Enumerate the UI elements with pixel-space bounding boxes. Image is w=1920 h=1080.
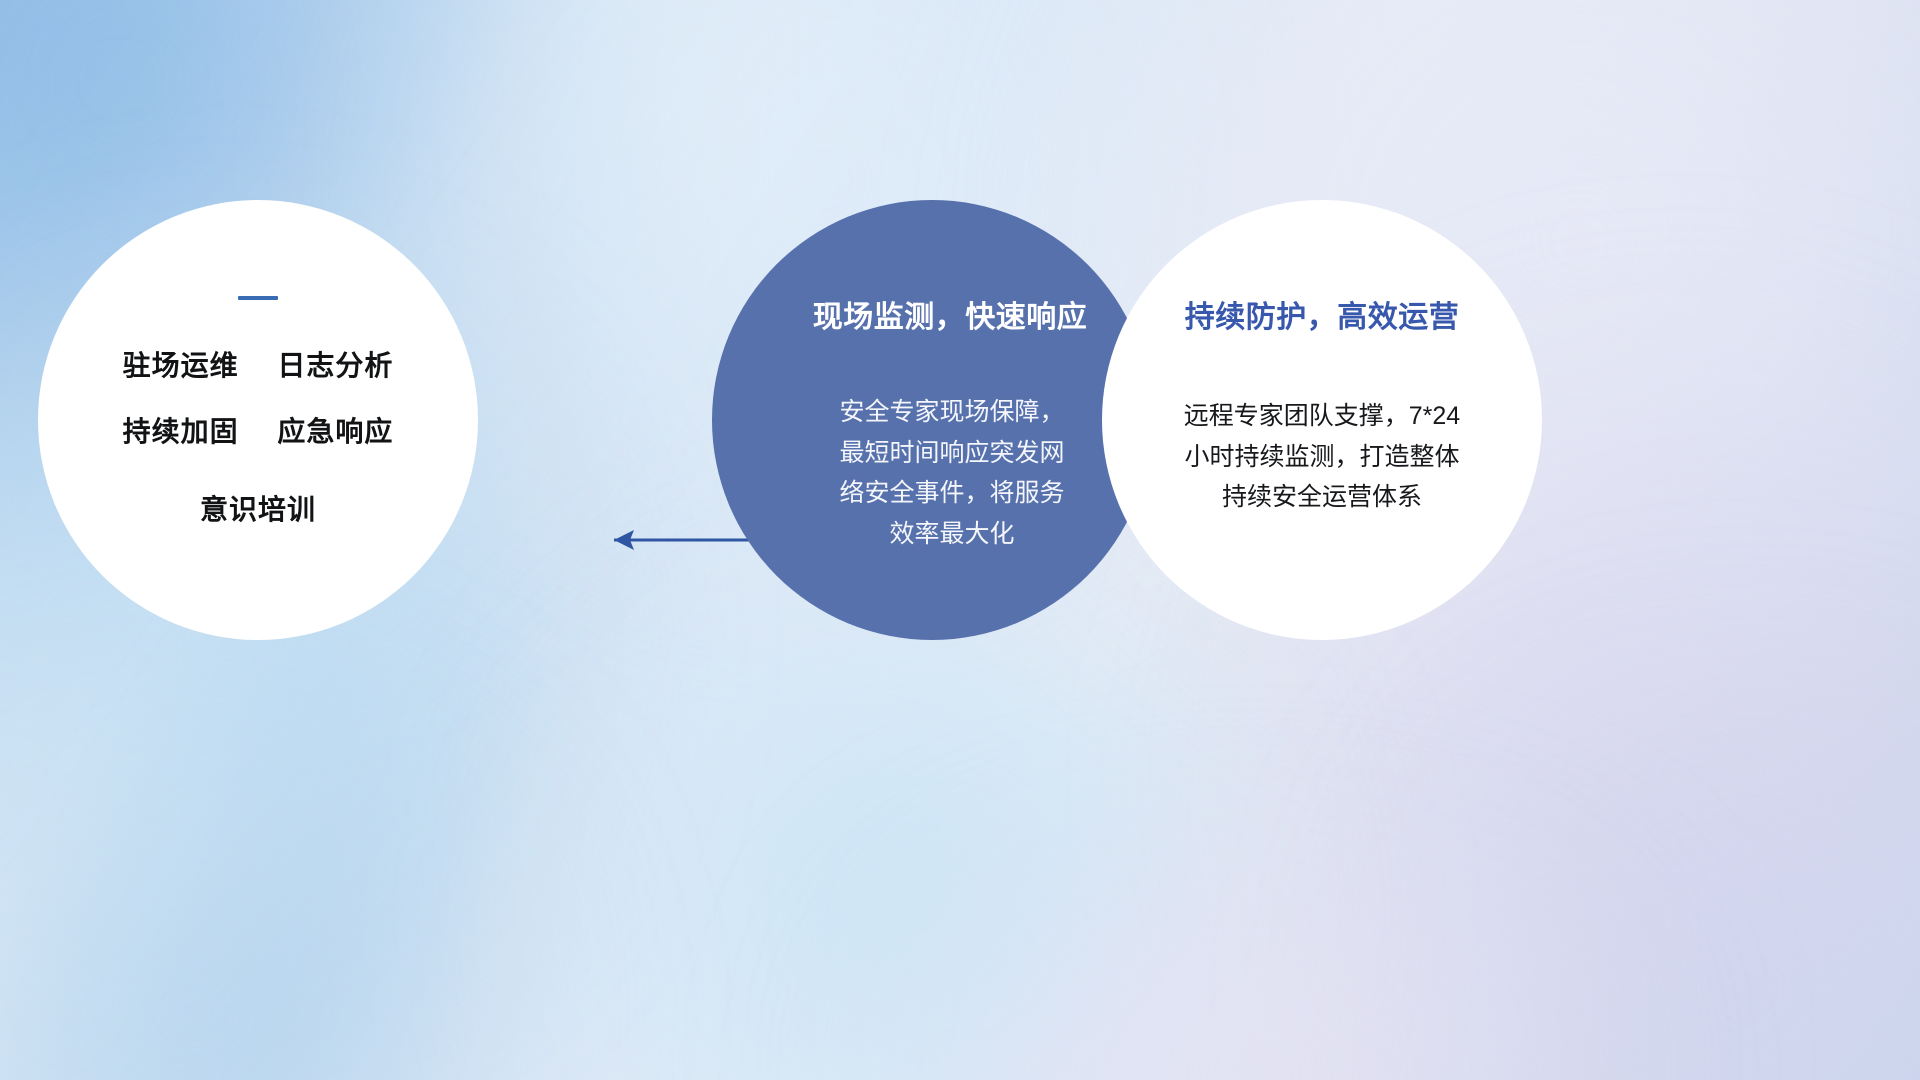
capability-row-1: 驻场运维 日志分析 bbox=[123, 344, 394, 384]
capability-list: 驻场运维 日志分析 持续加固 应急响应 意识培训 bbox=[123, 344, 394, 528]
capability-item-emergency-response: 应急响应 bbox=[277, 416, 393, 447]
capability-row-3: 意识培训 bbox=[200, 488, 316, 528]
card-body-continuous-protection: 远程专家团队支撑，7*24 小时持续监测，打造整体 持续安全运营体系 bbox=[1137, 396, 1507, 518]
capability-row-2: 持续加固 应急响应 bbox=[123, 410, 394, 450]
card-body-line: 小时持续监测，打造整体 bbox=[1137, 437, 1507, 478]
slide-canvas: 驻场运维 日志分析 持续加固 应急响应 意识培训 现场监测，快速响应 安全专家现… bbox=[0, 0, 1920, 1080]
card-capabilities: 驻场运维 日志分析 持续加固 应急响应 意识培训 bbox=[38, 200, 478, 640]
capability-item-continuous-hardening: 持续加固 bbox=[123, 416, 239, 447]
card-body-line: 安全专家现场保障， bbox=[802, 392, 1102, 433]
card-onsite-monitoring: 现场监测，快速响应 安全专家现场保障， 最短时间响应突发网 络安全事件，将服务 … bbox=[712, 200, 1152, 640]
card-body-onsite-monitoring: 安全专家现场保障， 最短时间响应突发网 络安全事件，将服务 效率最大化 bbox=[802, 392, 1102, 554]
card-body-line: 持续安全运营体系 bbox=[1137, 477, 1507, 518]
card-body-line: 最短时间响应突发网 bbox=[802, 433, 1102, 474]
capability-item-log-analysis: 日志分析 bbox=[277, 350, 393, 381]
card-body-line: 效率最大化 bbox=[802, 514, 1102, 555]
card-body-line: 远程专家团队支撑，7*24 bbox=[1137, 396, 1507, 437]
title-divider bbox=[238, 296, 278, 300]
card-continuous-protection: 持续防护，高效运营 远程专家团队支撑，7*24 小时持续监测，打造整体 持续安全… bbox=[1102, 200, 1542, 640]
card-title-continuous-protection: 持续防护，高效运营 bbox=[1185, 292, 1460, 336]
capability-item-onsite-ops: 驻场运维 bbox=[123, 350, 239, 381]
capability-item-awareness-training: 意识培训 bbox=[200, 494, 316, 525]
card-body-line: 络安全事件，将服务 bbox=[802, 473, 1102, 514]
card-title-onsite-monitoring: 现场监测，快速响应 bbox=[813, 292, 1088, 336]
